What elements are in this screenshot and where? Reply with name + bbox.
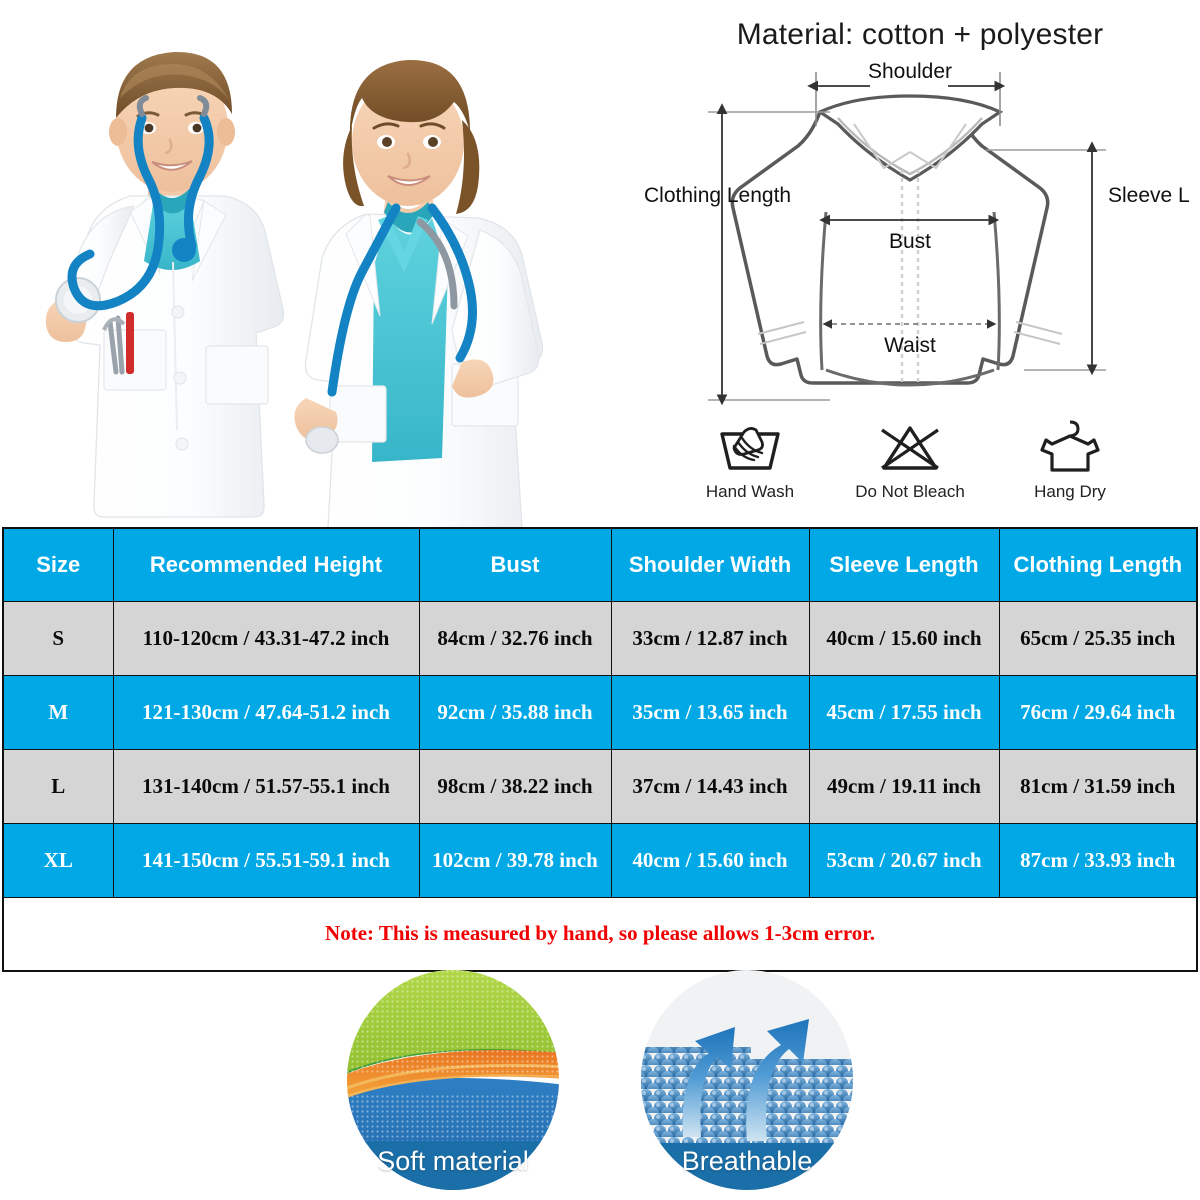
cell-shoulder: 40cm / 15.60 inch	[611, 823, 809, 897]
waist-label: Waist	[884, 334, 936, 357]
bust-label: Bust	[889, 230, 931, 253]
sleeve-length-label: Sleeve Length	[1108, 184, 1190, 207]
cell-shoulder: 33cm / 12.87 inch	[611, 601, 809, 675]
cell-height: 141-150cm / 55.51-59.1 inch	[113, 823, 419, 897]
shirt-measurement-figure: Shoulder Clothing Length Sleeve Length B…	[630, 62, 1190, 412]
do-not-bleach-icon	[874, 422, 946, 474]
cell-bust: 102cm / 39.78 inch	[419, 823, 611, 897]
table-row: XL 141-150cm / 55.51-59.1 inch 102cm / 3…	[3, 823, 1197, 897]
cell-clothing: 87cm / 33.93 inch	[999, 823, 1197, 897]
care-item-hang-dry: Hang Dry	[995, 418, 1145, 502]
care-label: Hand Wash	[675, 482, 825, 502]
feature-soft-material: Soft material	[345, 969, 561, 1191]
hand-wash-icon	[714, 422, 786, 474]
cell-shoulder: 37cm / 14.43 inch	[611, 749, 809, 823]
product-photo	[0, 0, 620, 527]
clothing-length-label: Clothing Length	[644, 184, 791, 207]
col-header-bust: Bust	[419, 528, 611, 601]
cell-size: M	[3, 675, 113, 749]
cell-height: 131-140cm / 51.57-55.1 inch	[113, 749, 419, 823]
cell-size: L	[3, 749, 113, 823]
cell-clothing: 81cm / 31.59 inch	[999, 749, 1197, 823]
measurement-diagram: Material: cotton + polyester	[620, 0, 1200, 527]
care-label: Do Not Bleach	[835, 482, 985, 502]
hang-dry-icon	[1034, 418, 1106, 474]
table-row: M 121-130cm / 47.64-51.2 inch 92cm / 35.…	[3, 675, 1197, 749]
cell-height: 121-130cm / 47.64-51.2 inch	[113, 675, 419, 749]
col-header-sleeve-length: Sleeve Length	[809, 528, 999, 601]
col-header-shoulder-width: Shoulder Width	[611, 528, 809, 601]
col-header-size: Size	[3, 528, 113, 601]
cell-size: S	[3, 601, 113, 675]
cell-bust: 84cm / 32.76 inch	[419, 601, 611, 675]
feature-breathable: Breathable	[639, 969, 855, 1191]
feature-caption: Soft material	[345, 1146, 561, 1177]
table-row: L 131-140cm / 51.57-55.1 inch 98cm / 38.…	[3, 749, 1197, 823]
size-table: Size Recommended Height Bust Shoulder Wi…	[2, 527, 1198, 972]
cell-sleeve: 53cm / 20.67 inch	[809, 823, 999, 897]
cell-clothing: 65cm / 25.35 inch	[999, 601, 1197, 675]
col-header-recommended-height: Recommended Height	[113, 528, 419, 601]
cell-clothing: 76cm / 29.64 inch	[999, 675, 1197, 749]
feature-caption: Breathable	[639, 1146, 855, 1177]
cell-shoulder: 35cm / 13.65 inch	[611, 675, 809, 749]
col-header-clothing-length: Clothing Length	[999, 528, 1197, 601]
care-item-do-not-bleach: Do Not Bleach	[835, 422, 985, 502]
cell-sleeve: 45cm / 17.55 inch	[809, 675, 999, 749]
material-title: Material: cotton + polyester	[650, 18, 1190, 52]
care-instructions: Hand Wash Do Not Bleach Hang Dry	[675, 418, 1145, 502]
table-header-row: Size Recommended Height Bust Shoulder Wi…	[3, 528, 1197, 601]
cell-bust: 92cm / 35.88 inch	[419, 675, 611, 749]
cell-size: XL	[3, 823, 113, 897]
cell-height: 110-120cm / 43.31-47.2 inch	[113, 601, 419, 675]
care-label: Hang Dry	[995, 482, 1145, 502]
care-item-hand-wash: Hand Wash	[675, 422, 825, 502]
cell-sleeve: 49cm / 19.11 inch	[809, 749, 999, 823]
product-size-chart-page: Material: cotton + polyester	[0, 0, 1200, 1200]
kids-lab-coat-photo	[0, 0, 620, 527]
cell-sleeve: 40cm / 15.60 inch	[809, 601, 999, 675]
table-row: S 110-120cm / 43.31-47.2 inch 84cm / 32.…	[3, 601, 1197, 675]
shoulder-label: Shoulder	[868, 62, 952, 83]
feature-badges: Soft material	[0, 960, 1200, 1200]
cell-bust: 98cm / 38.22 inch	[419, 749, 611, 823]
